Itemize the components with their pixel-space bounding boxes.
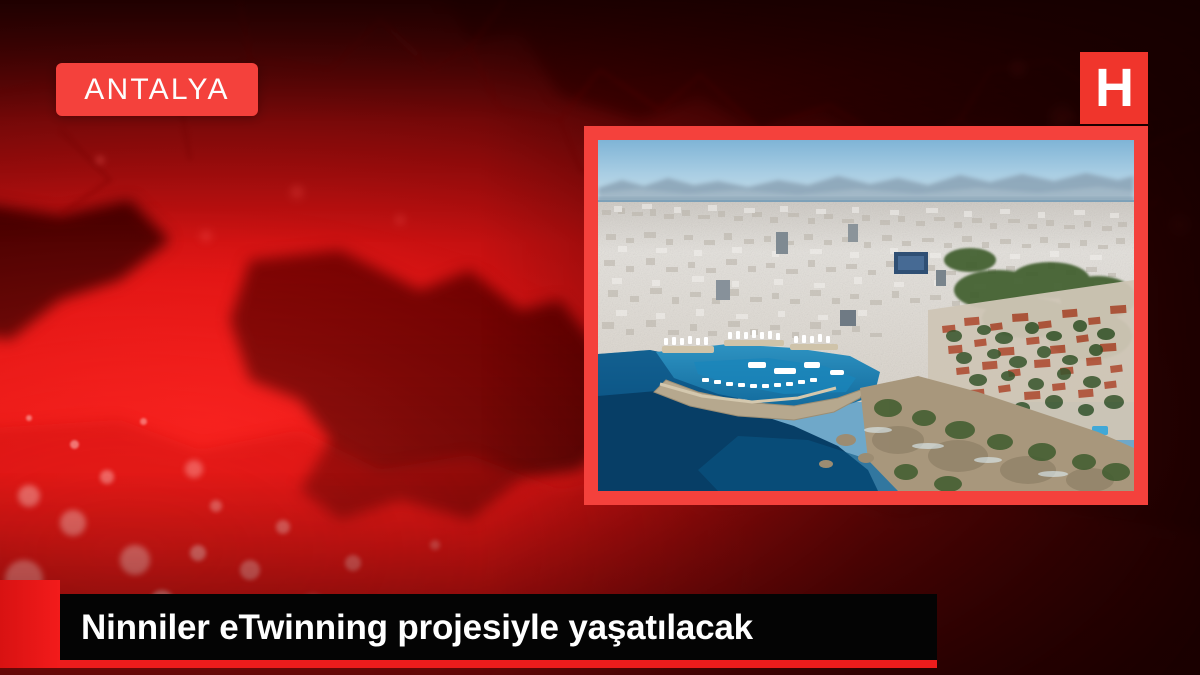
photo-frame bbox=[584, 126, 1148, 505]
headline-band: Ninniler eTwinning projesiyle yaşatılaca… bbox=[60, 594, 937, 660]
headline-text: Ninniler eTwinning projesiyle yaşatılaca… bbox=[60, 610, 753, 645]
city-badge: ANTALYA bbox=[56, 63, 258, 116]
headline-accent-bar bbox=[0, 580, 60, 668]
headline: Ninniler eTwinning projesiyle yaşatılaca… bbox=[60, 594, 937, 668]
photo-illustration bbox=[598, 140, 1134, 491]
city-badge-label: ANTALYA bbox=[84, 75, 229, 105]
photo-antalya-aerial bbox=[598, 140, 1134, 491]
headline-underline bbox=[60, 660, 937, 668]
brand-logo: H bbox=[1080, 52, 1148, 124]
news-card: ANTALYA H bbox=[0, 0, 1200, 675]
brand-logo-mark: H bbox=[1095, 61, 1133, 115]
